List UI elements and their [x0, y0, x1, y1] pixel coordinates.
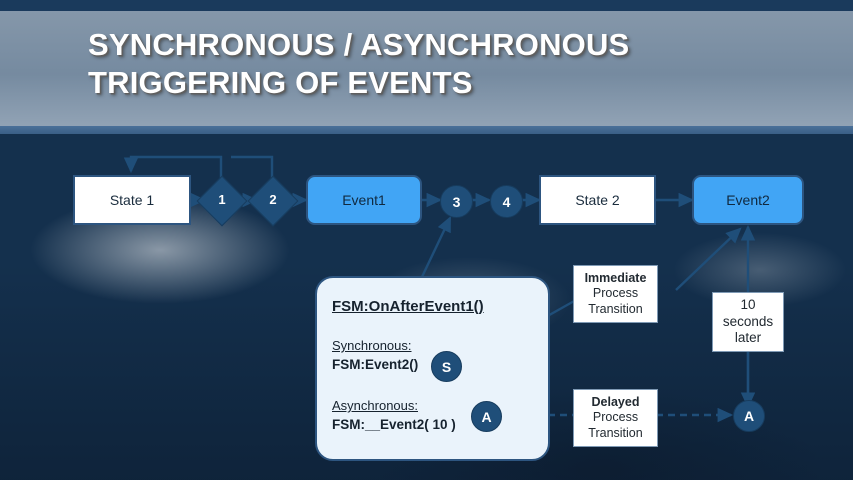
node-state-1-label: State 1 [110, 192, 154, 208]
node-event-2[interactable]: Event2 [692, 175, 804, 225]
sync-marker-s-label: S [442, 359, 451, 375]
async-marker-a-source[interactable]: A [471, 401, 502, 432]
page-title: SYNCHRONOUS / ASYNCHRONOUS TRIGGERING OF… [88, 26, 788, 103]
note-delayed-line-3: Transition [588, 426, 642, 441]
step-marker-3-label: 3 [453, 194, 461, 210]
node-state-2-label: State 2 [575, 192, 619, 208]
sync-marker-s[interactable]: S [431, 351, 462, 382]
note-delay-duration: 10 seconds later [712, 292, 784, 352]
note-immediate-line-2: Process [593, 286, 638, 301]
note-delay-line-1: 10 [740, 297, 755, 313]
note-immediate-line-1: Immediate [585, 271, 647, 286]
step-marker-4[interactable]: 4 [490, 185, 523, 218]
async-marker-a-target-label: A [744, 408, 754, 424]
node-event-2-label: Event2 [726, 192, 770, 208]
note-delay-line-3: later [735, 330, 761, 346]
step-marker-4-label: 4 [503, 194, 511, 210]
node-state-2[interactable]: State 2 [539, 175, 656, 225]
gate-1-label: 1 [205, 184, 239, 218]
fsm-synchronous-call: FSM:Event2() [332, 357, 418, 372]
note-immediate-line-3: Transition [588, 302, 642, 317]
page-title-line-2: TRIGGERING OF EVENTS [88, 64, 788, 102]
fsm-title: FSM:OnAfterEvent1() [332, 298, 484, 315]
node-state-1[interactable]: State 1 [73, 175, 191, 225]
note-delayed-line-1: Delayed [592, 395, 640, 410]
header-bottom-strip [0, 126, 853, 134]
slide-canvas: SYNCHRONOUS / ASYNCHRONOUS TRIGGERING OF… [0, 0, 853, 480]
header-top-strip [0, 0, 853, 11]
note-delayed-line-2: Process [593, 410, 638, 425]
fsm-asynchronous-heading: Asynchronous: [332, 398, 418, 413]
fsm-asynchronous-call: FSM:__Event2( 10 ) [332, 417, 456, 432]
note-immediate-process-transition: Immediate Process Transition [573, 265, 658, 323]
gate-2-label: 2 [256, 184, 290, 218]
async-marker-a-target[interactable]: A [733, 400, 765, 432]
node-event-1-label: Event1 [342, 192, 386, 208]
fsm-synchronous-heading: Synchronous: [332, 338, 412, 353]
page-title-line-1: SYNCHRONOUS / ASYNCHRONOUS [88, 26, 788, 64]
note-delay-line-2: seconds [723, 314, 773, 330]
async-marker-a-source-label: A [481, 409, 491, 425]
node-event-1[interactable]: Event1 [306, 175, 422, 225]
step-marker-3[interactable]: 3 [440, 185, 473, 218]
note-delayed-process-transition: Delayed Process Transition [573, 389, 658, 447]
